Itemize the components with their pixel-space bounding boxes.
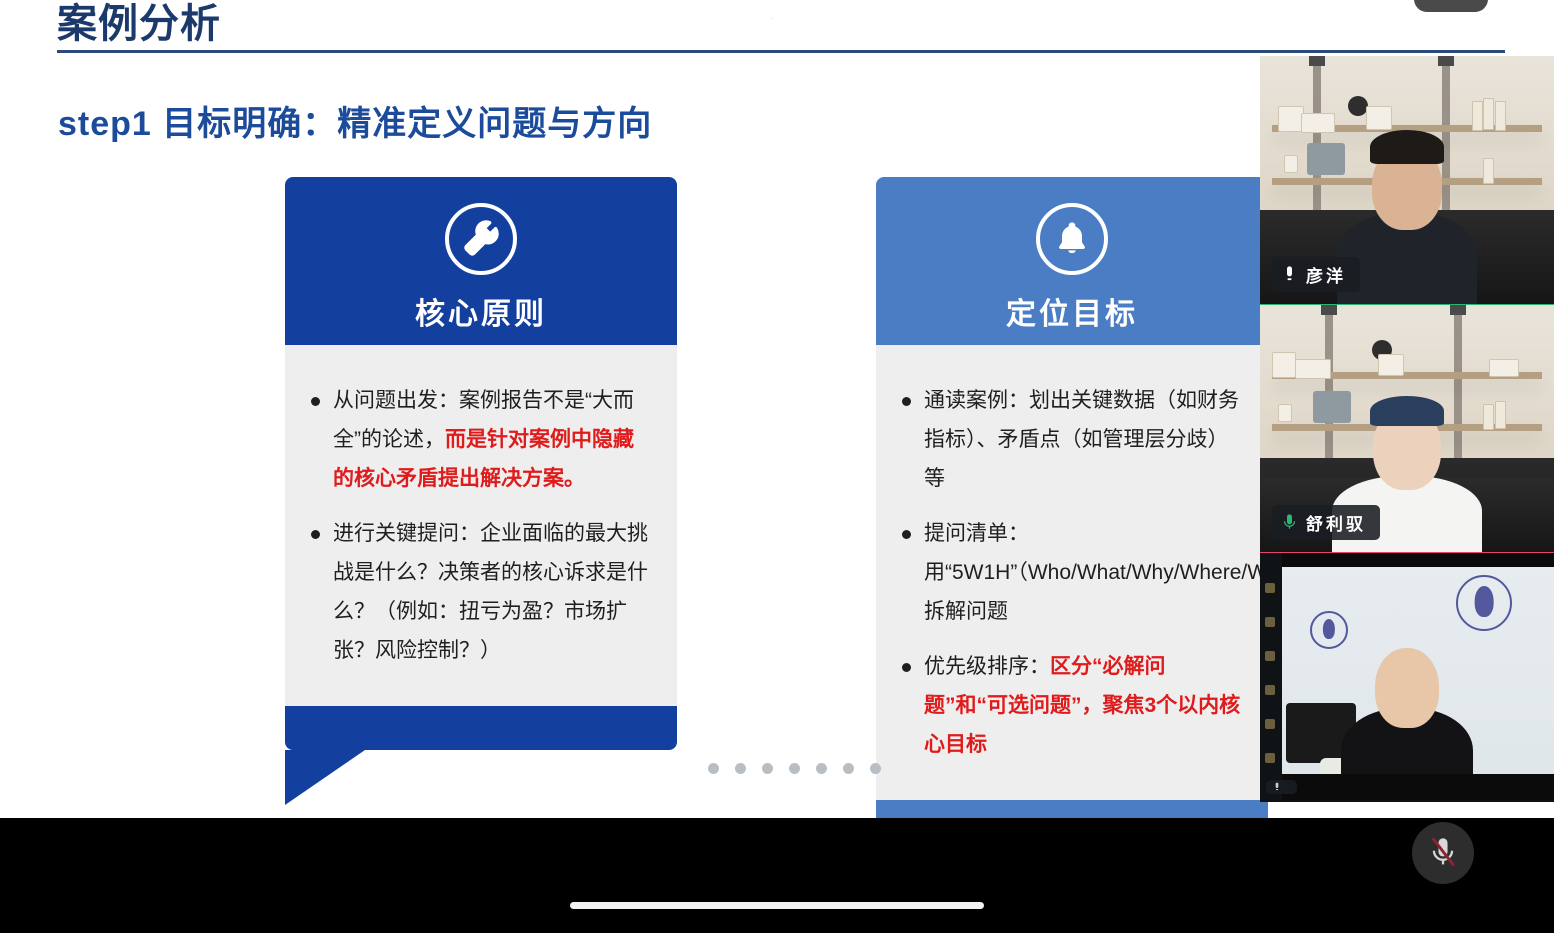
screen-edge-artifact [1260,553,1282,800]
wall-logo-icon [1310,611,1348,649]
participant-name-chip [1266,780,1297,794]
mic-active-icon [1282,513,1297,532]
footer-bar [285,706,677,750]
bubble-tail [285,750,365,805]
list-item: 优先级排序：区分“必解问题”和“可选问题”，聚焦3个以内核心目标 [898,647,1242,764]
video-feed [1260,553,1554,800]
card-body: 通读案例：划出关键数据（如财务指标）、矛盾点（如管理层分歧）等 提问清单：用“5… [876,345,1268,800]
pagination-dot[interactable] [708,763,719,774]
list-item: 提问清单：用“5W1H”（Who/What/Why/Where/When/How… [898,514,1242,631]
screen-root: · · 案例分析 step1 目标明确：精准定义问题与方向 核心原则 从问题出发… [0,0,1554,933]
slide-pagination-dots[interactable] [708,763,881,774]
bullet-list: 通读案例：划出关键数据（如财务指标）、矛盾点（如管理层分歧）等 提问清单：用“5… [898,381,1242,764]
home-indicator [570,902,984,909]
participant-tile[interactable]: 彦洋 [1260,56,1554,304]
participant-tile[interactable]: 舒利驭 [1260,304,1554,552]
mic-muted-icon [1273,782,1281,792]
card-footer-tail [876,800,1268,818]
pagination-dot[interactable] [843,763,854,774]
mic-off-icon [1428,836,1458,870]
card-header: 核心原则 [285,177,677,345]
card-heading: 核心原则 [415,289,547,333]
bullet-list: 从问题出发：案例报告不是“大而全”的论述，而是针对案例中隐藏的核心矛盾提出解决方… [307,381,651,670]
bell-icon [1036,203,1108,275]
card-heading: 定位目标 [1006,289,1138,333]
card-footer-tail [285,706,677,803]
mic-muted-icon [1282,265,1297,284]
participant-name: 彦洋 [1306,262,1346,287]
card-header: 定位目标 [876,177,1268,345]
pagination-dot[interactable] [735,763,746,774]
participant-name-chip: 彦洋 [1272,257,1360,292]
list-item: 从问题出发：案例报告不是“大而全”的论述，而是针对案例中隐藏的核心矛盾提出解决方… [307,381,651,498]
participant-name: 舒利驭 [1306,510,1366,535]
pagination-dot[interactable] [870,763,881,774]
bullet-text-plain: 通读案例：划出关键数据（如财务指标）、矛盾点（如管理层分歧）等 [924,389,1239,490]
bullet-text-plain: 进行关键提问：企业面临的最大挑战是什么？决策者的核心诉求是什么？（例如：扭亏为盈… [333,522,648,662]
bullet-text-plain: 优先级排序： [924,655,1050,678]
status-pill [1414,0,1488,12]
title-divider [57,50,1505,53]
card-core-principle: 核心原则 从问题出发：案例报告不是“大而全”的论述，而是针对案例中隐藏的核心矛盾… [285,177,677,803]
bottom-control-bar [0,818,1554,933]
list-item: 通读案例：划出关键数据（如财务指标）、矛盾点（如管理层分歧）等 [898,381,1242,498]
page-title: 案例分析 [57,0,221,48]
list-item: 进行关键提问：企业面临的最大挑战是什么？决策者的核心诉求是什么？（例如：扭亏为盈… [307,514,651,670]
mic-toggle-button[interactable] [1412,822,1474,884]
card-locate-goal: 定位目标 通读案例：划出关键数据（如财务指标）、矛盾点（如管理层分歧）等 提问清… [876,177,1268,818]
wall-logo-icon [1456,575,1512,631]
participant-name-chip: 舒利驭 [1272,505,1380,540]
watermark: · [767,10,778,25]
card-body: 从问题出发：案例报告不是“大而全”的论述，而是针对案例中隐藏的核心矛盾提出解决方… [285,345,677,706]
slide-subtitle: step1 目标明确：精准定义问题与方向 [58,96,652,145]
pagination-dot[interactable] [762,763,773,774]
pagination-dot[interactable] [789,763,800,774]
footer-bar [876,800,1268,818]
wrench-icon [445,203,517,275]
participant-video-rail: 彦洋 [1260,56,1554,802]
pagination-dot[interactable] [816,763,827,774]
participant-tile[interactable] [1260,552,1554,800]
